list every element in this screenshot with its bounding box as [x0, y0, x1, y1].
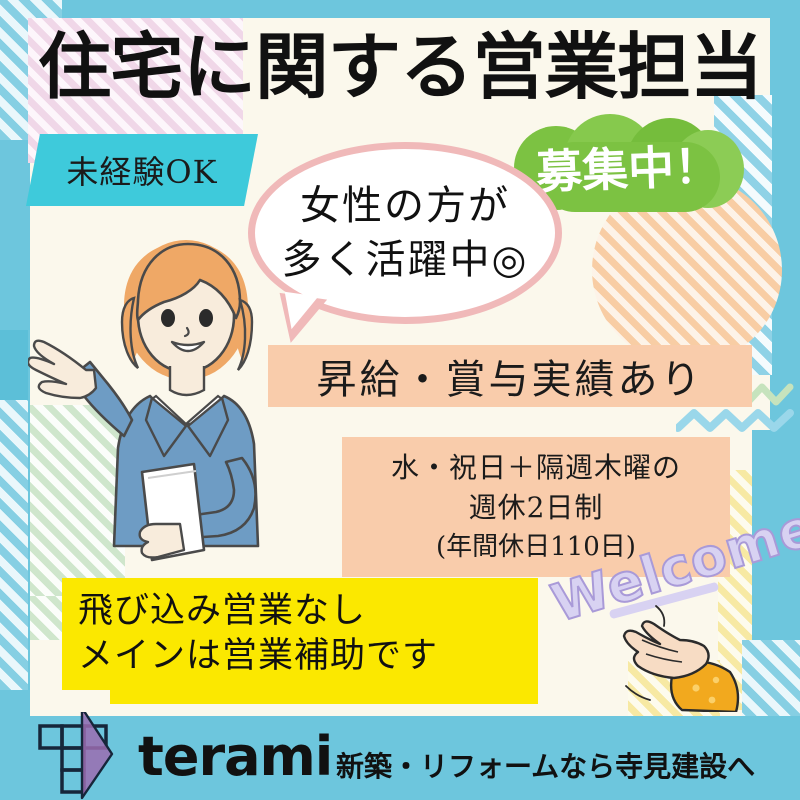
experience-tag: 未経験OK	[26, 134, 258, 206]
sales-line-1: 飛び込み営業なし	[78, 589, 366, 635]
raise-bonus-box: 昇給・賞与実績あり	[268, 345, 752, 407]
decor-block-left-blue	[0, 330, 28, 410]
recruitment-poster: 住宅に関する営業担当 未経験OK 募集中！	[0, 0, 800, 800]
sales-box-extension	[110, 690, 538, 704]
brand-name: terami	[138, 730, 332, 784]
holiday-line-2: 週休2日制	[469, 488, 604, 529]
decor-zigzag-blue-icon	[676, 408, 798, 434]
terami-logo-mark-icon	[38, 712, 134, 800]
experience-tag-label: 未経験OK	[26, 134, 258, 206]
decor-stripe-left-blue	[0, 400, 28, 690]
page-title: 住宅に関する営業担当	[0, 30, 800, 106]
speech-bubble-line-1: 女性の方が	[300, 179, 510, 233]
sales-line-2: メインは営業補助です	[78, 634, 438, 680]
footer-tagline: 新築・リフォームなら寺見建設へ	[336, 745, 755, 785]
holiday-line-1: 水・祝日＋隔週木曜の	[391, 448, 681, 489]
raise-bonus-label: 昇給・賞与実績あり	[317, 347, 704, 405]
sales-info-box: 飛び込み営業なし メインは営業補助です	[62, 578, 538, 690]
speech-bubble-text: 女性の方が 多く活躍中◎	[248, 142, 562, 324]
speech-bubble-line-2: 多く活躍中◎	[282, 233, 529, 287]
welcoming-hand-illustration-icon	[620, 600, 750, 712]
